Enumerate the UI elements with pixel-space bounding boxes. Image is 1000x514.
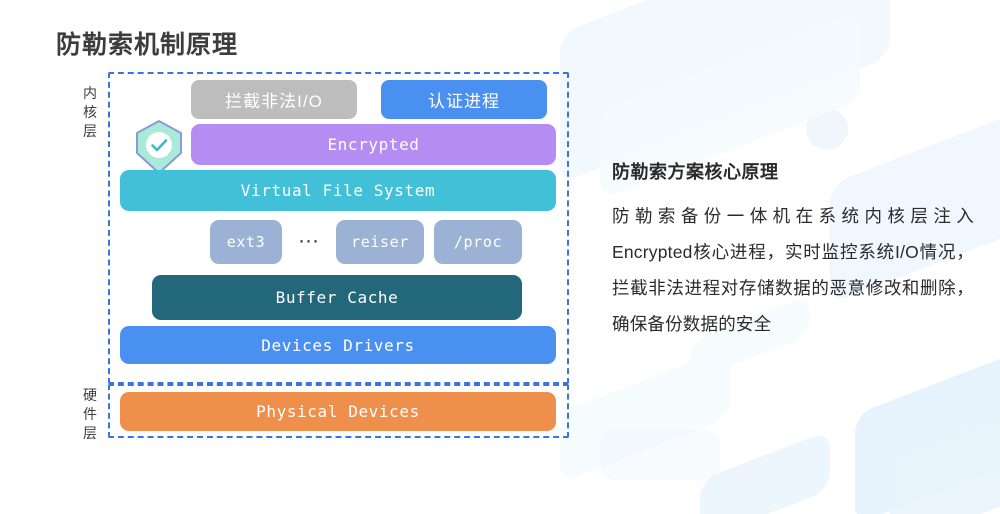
bg-shape xyxy=(806,108,848,150)
bg-shape xyxy=(855,345,1000,514)
info-panel-heading: 防勒索方案核心原理 xyxy=(612,158,974,184)
hardware-layer-label: 硬件层 xyxy=(79,386,101,443)
bg-shape xyxy=(700,430,830,514)
page-title: 防勒索机制原理 xyxy=(56,25,238,61)
node-encrypted[interactable]: Encrypted xyxy=(191,124,556,165)
node-virtual-file-system[interactable]: Virtual File System xyxy=(120,170,556,211)
node-auth-process[interactable]: 认证进程 xyxy=(381,80,547,119)
node-physical-devices[interactable]: Physical Devices xyxy=(120,392,556,431)
info-panel-body: 防勒索备份一体机在系统内核层注入Encrypted核心进程，实时监控系统I/O情… xyxy=(612,198,974,342)
bg-shape xyxy=(560,0,890,183)
kernel-layer-label: 内核层 xyxy=(79,84,101,141)
bg-shape xyxy=(890,401,1000,514)
info-panel: 防勒索方案核心原理 防勒索备份一体机在系统内核层注入Encrypted核心进程，… xyxy=(612,158,974,342)
architecture-diagram: 内核层 硬件层 拦截非法I/O 认证进程 Encrypted Virtual F… xyxy=(0,0,600,514)
node-ext3[interactable]: ext3 xyxy=(210,220,282,264)
node-proc[interactable]: /proc xyxy=(434,220,522,264)
bg-shape xyxy=(600,430,720,480)
filesystem-ellipsis: ··· xyxy=(293,228,325,256)
node-intercept-illegal-io[interactable]: 拦截非法I/O xyxy=(191,80,357,119)
node-devices-drivers[interactable]: Devices Drivers xyxy=(120,326,556,364)
node-reiser[interactable]: reiser xyxy=(336,220,424,264)
shield-check-icon xyxy=(133,119,185,175)
node-buffer-cache[interactable]: Buffer Cache xyxy=(152,275,522,320)
